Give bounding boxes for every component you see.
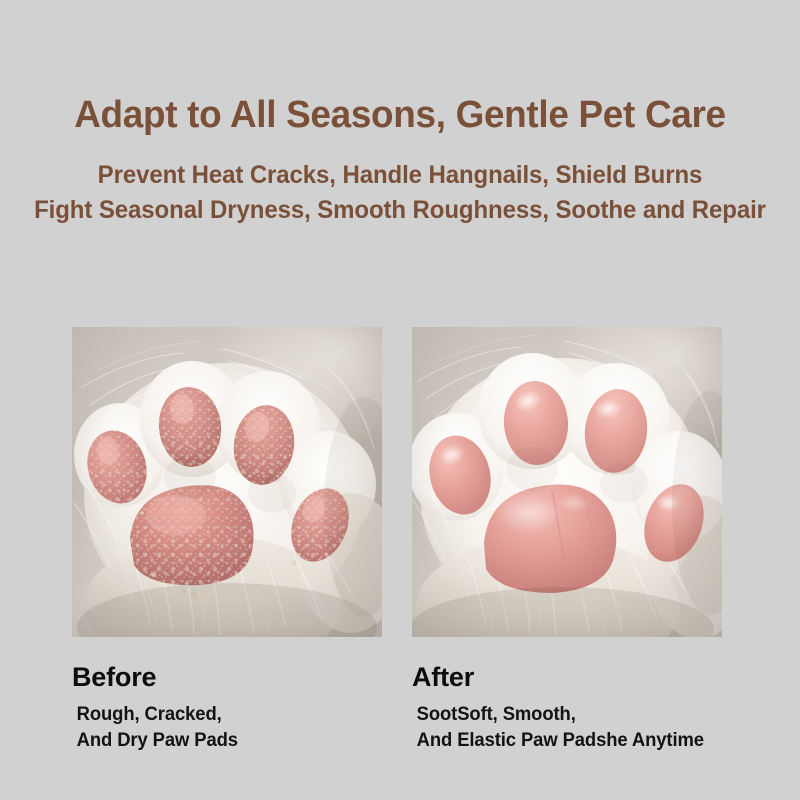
photo-vignette-before (72, 327, 382, 637)
page-title: Adapt to All Seasons, Gentle Pet Care (12, 0, 788, 136)
subtitle-line-2: Fight Seasonal Dryness, Smooth Roughness… (16, 193, 784, 229)
caption-title-before: Before (72, 663, 382, 693)
caption-lines-after: SootSoft, Smooth, And Elastic Paw Padshe… (412, 693, 722, 755)
panel-before: Before Rough, Cracked, And Dry Paw Pads (72, 327, 382, 755)
caption-title-after: After (412, 663, 722, 693)
paw-photo-before (72, 327, 382, 637)
panel-after: After SootSoft, Smooth, And Elastic Paw … (412, 327, 722, 755)
caption-line-before-1: Rough, Cracked, (77, 702, 378, 729)
subtitle-block: Prevent Heat Cracks, Handle Hangnails, S… (0, 136, 800, 229)
comparison-panels: Before Rough, Cracked, And Dry Paw Pads (72, 327, 722, 755)
caption-line-after-1: SootSoft, Smooth, (417, 702, 718, 729)
caption-lines-before: Rough, Cracked, And Dry Paw Pads (72, 693, 382, 755)
caption-after: After SootSoft, Smooth, And Elastic Paw … (412, 637, 722, 755)
photo-vignette-after (412, 327, 722, 637)
caption-line-before-2: And Dry Paw Pads (77, 728, 378, 755)
subtitle-line-1: Prevent Heat Cracks, Handle Hangnails, S… (16, 158, 784, 194)
paw-photo-after (412, 327, 722, 637)
caption-before: Before Rough, Cracked, And Dry Paw Pads (72, 637, 382, 755)
caption-line-after-2: And Elastic Paw Padshe Anytime (417, 728, 718, 755)
header-block: Adapt to All Seasons, Gentle Pet Care Pr… (0, 0, 800, 229)
